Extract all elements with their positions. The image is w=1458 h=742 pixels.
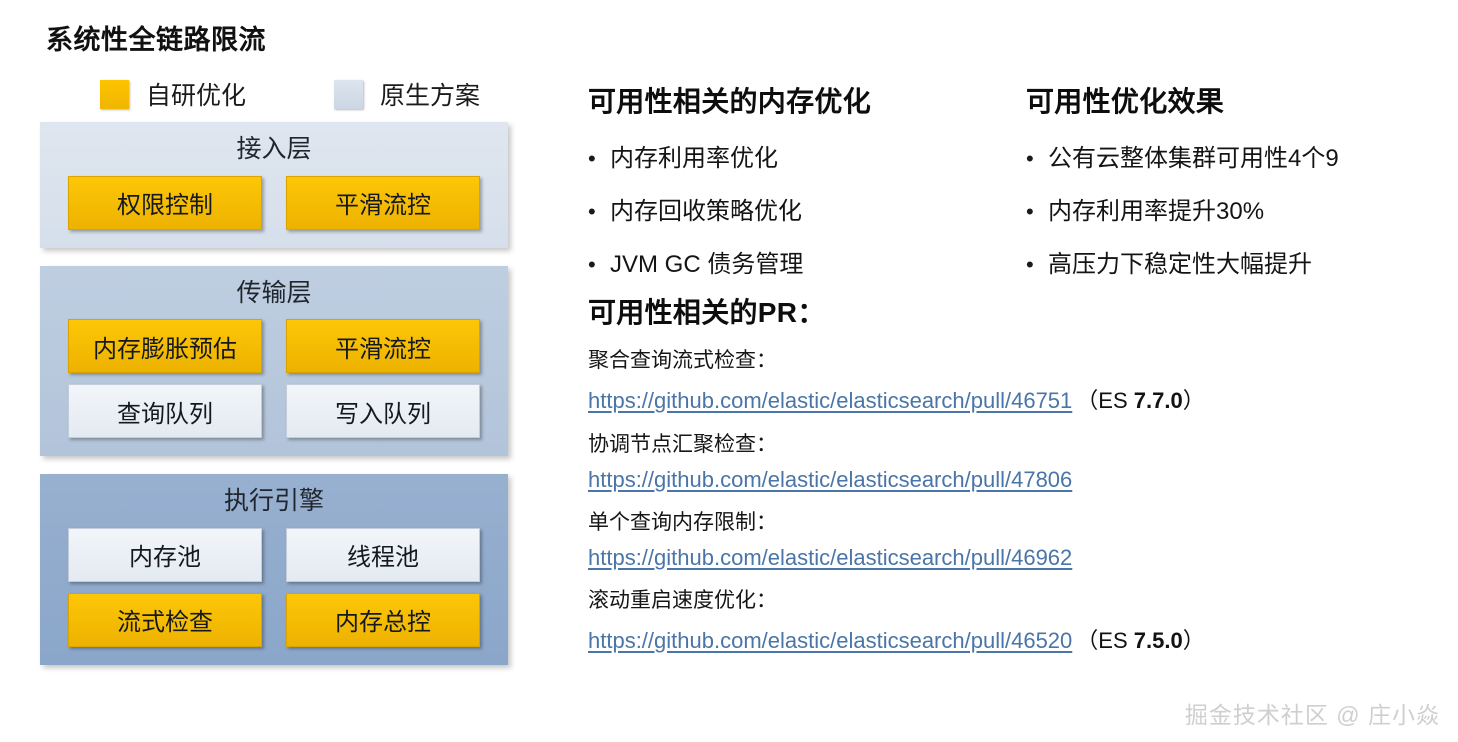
layer-title-transport: 传输层 [68,280,480,308]
pr-version-number: 7.7.0 [1134,388,1183,413]
bullet-dot-icon: • [588,254,610,276]
pr-version-prefix: （ES [1076,388,1133,413]
pr-version-suffix: ） [1183,388,1205,413]
pr-link-row: https://github.com/elastic/elasticsearch… [588,383,1458,415]
node-neicun-chi[interactable]: 内存池 [68,528,262,582]
layer-stack: 接入层 权限控制 平滑流控 传输层 内存膨胀预估 平滑流控 查询队列 写入队列 … [40,122,508,683]
column-memory-optimization: 可用性相关的内存优化 • 内存利用率优化 • 内存回收策略优化 • JVM GC… [588,80,1008,279]
heading-optimization-effect: 可用性优化效果 [1026,80,1456,120]
bullet-label: 公有云整体集群可用性4个9 [1048,138,1339,173]
node-neicun-pengzhang-yugu[interactable]: 内存膨胀预估 [68,319,262,373]
column-optimization-effect: 可用性优化效果 • 公有云整体集群可用性4个9 • 内存利用率提升30% • 高… [1026,80,1456,279]
pr-version: （ES 7.5.0） [1076,623,1204,655]
bullet-dot-icon: • [588,148,610,170]
node-liushi-jiancha[interactable]: 流式检查 [68,593,262,647]
pr-link[interactable]: https://github.com/elastic/elasticsearch… [588,388,1072,414]
legend-item-native: 原生方案 [334,76,480,112]
pr-caption: 单个查询内存限制： [588,506,1458,536]
node-xiancheng-chi[interactable]: 线程池 [286,528,480,582]
pr-caption: 滚动重启速度优化： [588,584,1458,614]
pr-version: （ES 7.7.0） [1076,383,1204,415]
bullet-dot-icon: • [1026,254,1048,276]
heading-pr: 可用性相关的PR： [588,291,1458,331]
watermark: 掘金技术社区 @ 庄小焱 [1185,696,1440,730]
pr-link[interactable]: https://github.com/elastic/elasticsearch… [588,628,1072,654]
pr-entry: 单个查询内存限制： https://github.com/elastic/ela… [588,506,1458,571]
list-item: • 内存回收策略优化 [588,191,1008,226]
bullet-dot-icon: • [1026,148,1048,170]
legend-label-native: 原生方案 [380,76,480,112]
legend-swatch-native-icon [334,80,363,109]
pr-version-number: 7.5.0 [1134,628,1183,653]
layer-node-grid-transport: 内存膨胀预估 平滑流控 查询队列 写入队列 [68,319,480,438]
pr-link-row: https://github.com/elastic/elasticsearch… [588,545,1458,571]
node-pinghua-liukong-access[interactable]: 平滑流控 [286,176,480,230]
details-panel: 可用性相关的内存优化 • 内存利用率优化 • 内存回收策略优化 • JVM GC… [578,0,1458,742]
layer-node-grid-access: 权限控制 平滑流控 [68,176,480,230]
bullet-label: 高压力下稳定性大幅提升 [1048,244,1312,279]
bullet-label: 内存利用率提升30% [1048,191,1264,226]
layer-title-execution-engine: 执行引擎 [68,488,480,516]
node-pinghua-liukong-transport[interactable]: 平滑流控 [286,319,480,373]
pr-entry: 协调节点汇聚检查： https://github.com/elastic/ela… [588,428,1458,493]
pr-entry: 聚合查询流式检查： https://github.com/elastic/ela… [588,344,1458,415]
list-item: • 公有云整体集群可用性4个9 [1026,138,1456,173]
layer-access: 接入层 权限控制 平滑流控 [40,122,508,248]
bullet-label: 内存利用率优化 [610,138,778,173]
legend-label-custom: 自研优化 [146,76,246,112]
bullet-label: 内存回收策略优化 [610,191,802,226]
node-xieru-duilie[interactable]: 写入队列 [286,384,480,438]
pr-caption: 协调节点汇聚检查： [588,428,1458,458]
list-item: • 高压力下稳定性大幅提升 [1026,244,1456,279]
legend-item-custom: 自研优化 [100,76,246,112]
legend-swatch-custom-icon [100,80,129,109]
node-quanxian-kongzhi[interactable]: 权限控制 [68,176,262,230]
pr-link-row: https://github.com/elastic/elasticsearch… [588,623,1458,655]
pr-version-prefix: （ES [1076,628,1133,653]
pr-entry: 滚动重启速度优化： https://github.com/elastic/ela… [588,584,1458,655]
pr-link[interactable]: https://github.com/elastic/elasticsearch… [588,545,1072,571]
layer-execution-engine: 执行引擎 内存池 线程池 流式检查 内存总控 [40,474,508,665]
page-title: 系统性全链路限流 [46,18,266,57]
node-chaxun-duilie[interactable]: 查询队列 [68,384,262,438]
architecture-panel: 系统性全链路限流 自研优化 原生方案 接入层 权限控制 平滑流控 传输层 内存膨… [0,0,560,742]
pr-version-suffix: ） [1183,628,1205,653]
layer-title-access: 接入层 [68,136,480,164]
layer-transport: 传输层 内存膨胀预估 平滑流控 查询队列 写入队列 [40,266,508,457]
legend: 自研优化 原生方案 [100,76,480,112]
bullet-label: JVM GC 债务管理 [610,244,803,279]
bullet-list-memory: • 内存利用率优化 • 内存回收策略优化 • JVM GC 债务管理 [588,138,1008,279]
node-neicun-zongkong[interactable]: 内存总控 [286,593,480,647]
pr-caption: 聚合查询流式检查： [588,344,1458,374]
list-item: • 内存利用率优化 [588,138,1008,173]
bullet-dot-icon: • [1026,201,1048,223]
heading-memory-optimization: 可用性相关的内存优化 [588,80,1008,120]
list-item: • 内存利用率提升30% [1026,191,1456,226]
list-item: • JVM GC 债务管理 [588,244,1008,279]
bullet-list-effect: • 公有云整体集群可用性4个9 • 内存利用率提升30% • 高压力下稳定性大幅… [1026,138,1456,279]
pr-link-row: https://github.com/elastic/elasticsearch… [588,467,1458,493]
layer-node-grid-execution: 内存池 线程池 流式检查 内存总控 [68,528,480,647]
pr-section: 可用性相关的PR： 聚合查询流式检查： https://github.com/e… [588,291,1458,668]
bullet-dot-icon: • [588,201,610,223]
pr-link[interactable]: https://github.com/elastic/elasticsearch… [588,467,1072,493]
